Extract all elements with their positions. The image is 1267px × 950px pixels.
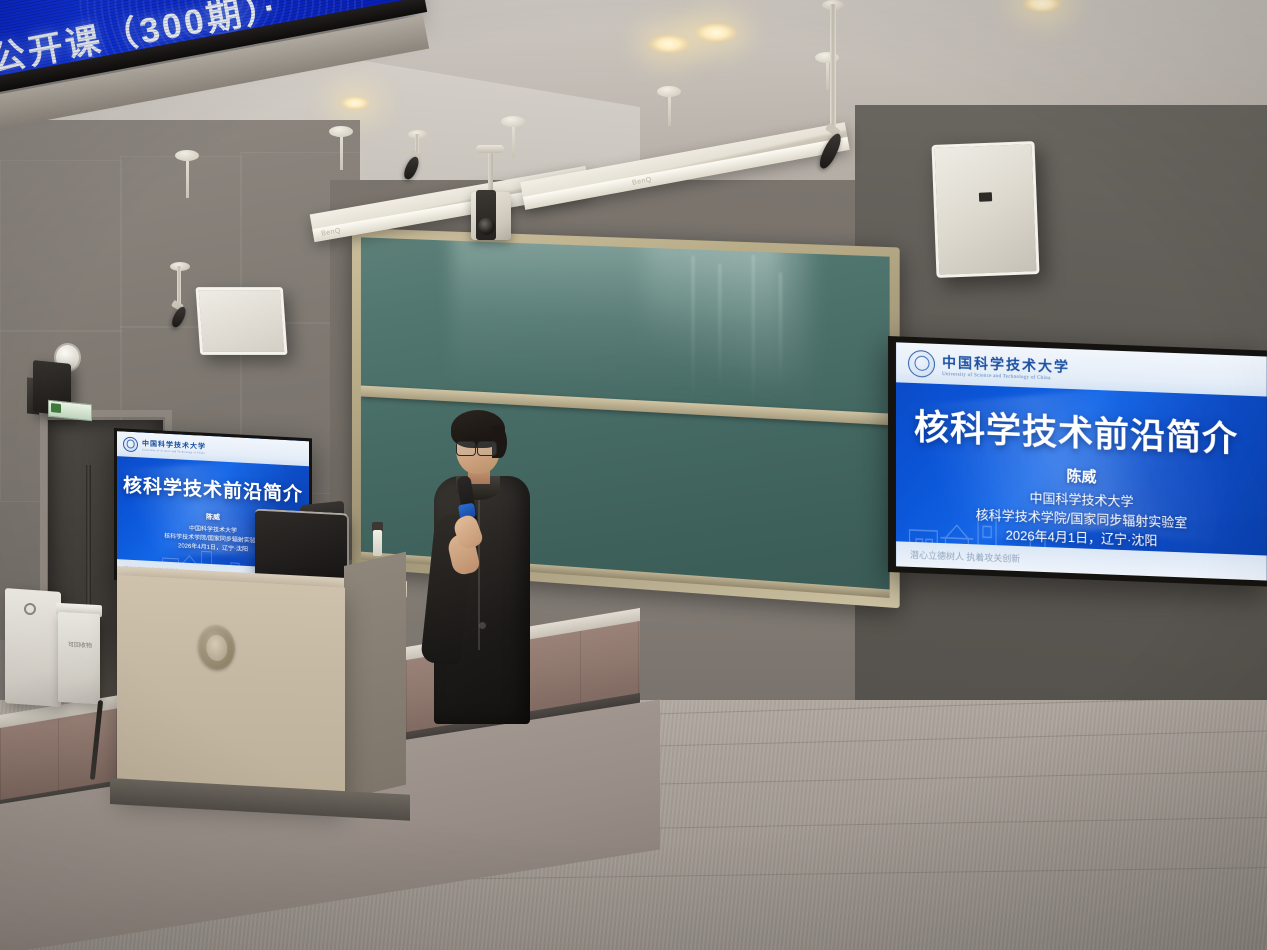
pendant-cap-2 (329, 126, 353, 137)
presentation-slide: 中国科学技术大学 University of Science and Techn… (896, 342, 1267, 580)
exit-running-man-icon (51, 403, 61, 413)
slide-subtitle-block: 陈威 中国科学技术大学 核科学技术学院/国家同步辐射实验室 2026年4月1日，… (896, 459, 1267, 554)
podium-monitor[interactable] (255, 509, 349, 584)
downlight-3 (694, 22, 738, 43)
ustc-seal-icon-secondary (123, 436, 138, 452)
downlight-5 (340, 96, 370, 110)
glasses-icon-right (477, 441, 497, 456)
pendant-cap-1 (175, 150, 199, 161)
wall-speaker-right (931, 141, 1039, 278)
pendant-cap-4 (657, 86, 681, 97)
pendant-cap-3 (501, 116, 525, 127)
chalk-stick[interactable] (373, 530, 382, 556)
main-display-screen[interactable]: 中国科学技术大学 University of Science and Techn… (888, 336, 1267, 587)
speaker-person (420, 404, 540, 724)
recycling-bin-label: 可回收物 (68, 639, 92, 649)
lectern (117, 575, 345, 808)
projector-ceiling-plate (476, 145, 504, 153)
glasses-icon-left (456, 441, 476, 456)
ustc-seal-icon (908, 349, 935, 377)
downlight-2 (648, 34, 690, 54)
boom-mic-rod-3 (830, 4, 836, 130)
slide-header-secondary: 中国科学技术大学 University of Science and Techn… (117, 431, 309, 466)
lectern-side (344, 552, 406, 799)
recycling-bin[interactable] (58, 612, 100, 704)
cabinet-latch-icon[interactable] (24, 603, 36, 615)
slide-header: 中国科学技术大学 University of Science and Techn… (896, 342, 1267, 397)
projector-lens-icon (478, 218, 495, 235)
slide-footer-motto: 潜心立德树人 执着攻关创新 (910, 548, 1020, 565)
lecture-hall-photo: BenQ BenQ (0, 0, 1267, 950)
speaker-brand-logo-icon (978, 192, 991, 201)
wall-speaker-left (196, 287, 288, 355)
